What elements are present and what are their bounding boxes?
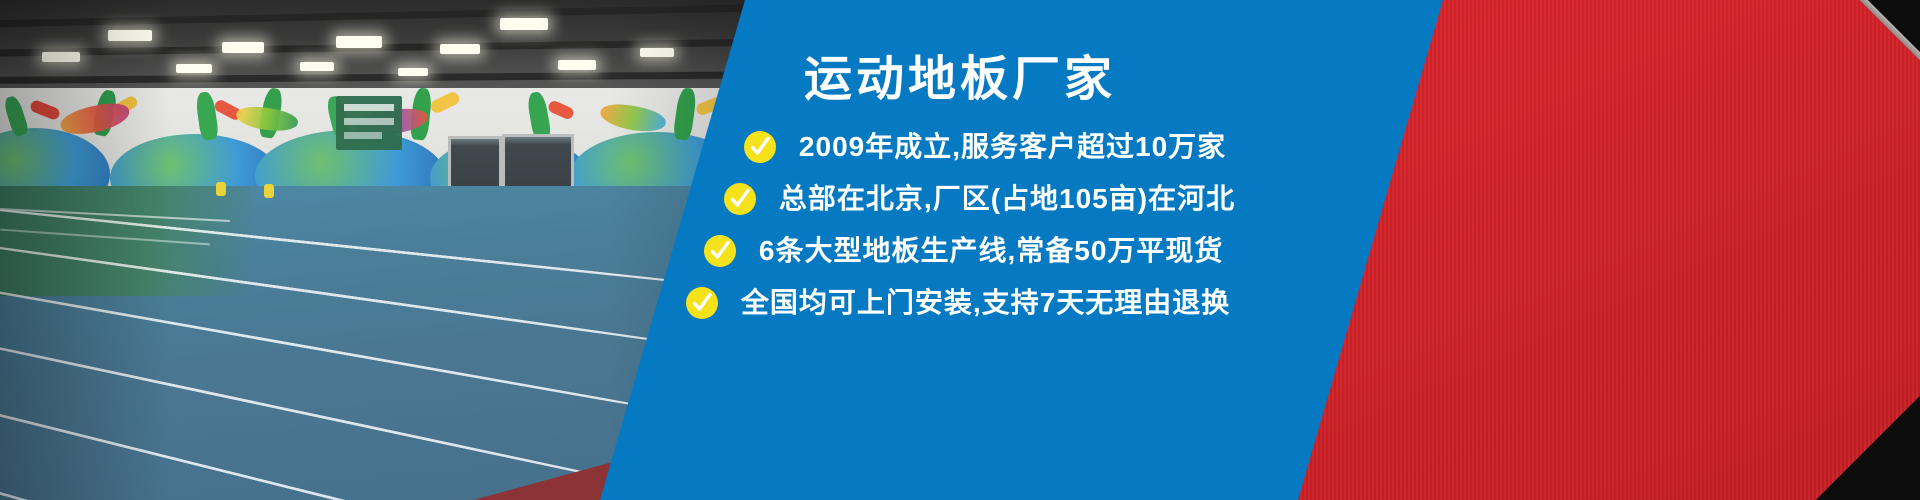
page-title: 运动地板厂家 [804,56,1116,104]
list-item-label: 2009年成立,服务客户超过10万家 [799,133,1226,161]
list-item: 2009年成立,服务客户超过10万家 [743,130,1235,164]
wall-sign-line [344,132,382,139]
list-item: 总部在北京,厂区(占地105亩)在河北 [723,182,1235,216]
ceiling-light [336,36,382,48]
check-circle-icon [685,286,719,320]
ceiling-light [440,44,480,54]
check-circle-icon [703,234,737,268]
gym-floor-green-zone [0,186,250,296]
ceiling-light [222,42,264,53]
list-item: 全国均可上门安装,支持7天无理由退换 [685,286,1235,320]
promo-banner: 运动地板厂家 2009年成立,服务客户超过10万家 总部在北京,厂区(占地105… [0,0,1920,500]
list-item-label: 6条大型地板生产线,常备50万平现货 [759,237,1224,265]
list-item-label: 全国均可上门安装,支持7天无理由退换 [741,289,1230,317]
wall-sign-line [344,104,394,111]
ceiling-light [300,62,334,71]
ceiling-light [500,18,548,30]
court-marker [216,182,226,196]
wall-sign-line [344,118,394,125]
panel-content: 运动地板厂家 2009年成立,服务客户超过10万家 总部在北京,厂区(占地105… [580,0,1340,500]
court-marker [264,184,274,198]
ceiling-light [176,64,212,73]
list-item-label: 总部在北京,厂区(占地105亩)在河北 [779,185,1235,213]
ceiling-light [398,68,428,76]
check-circle-icon [723,182,757,216]
check-circle-icon [743,130,777,164]
ceiling-light [108,30,152,41]
ceiling-light [42,52,80,62]
list-item: 6条大型地板生产线,常备50万平现货 [703,234,1235,268]
feature-list: 2009年成立,服务客户超过10万家 总部在北京,厂区(占地105亩)在河北 6… [685,130,1235,320]
